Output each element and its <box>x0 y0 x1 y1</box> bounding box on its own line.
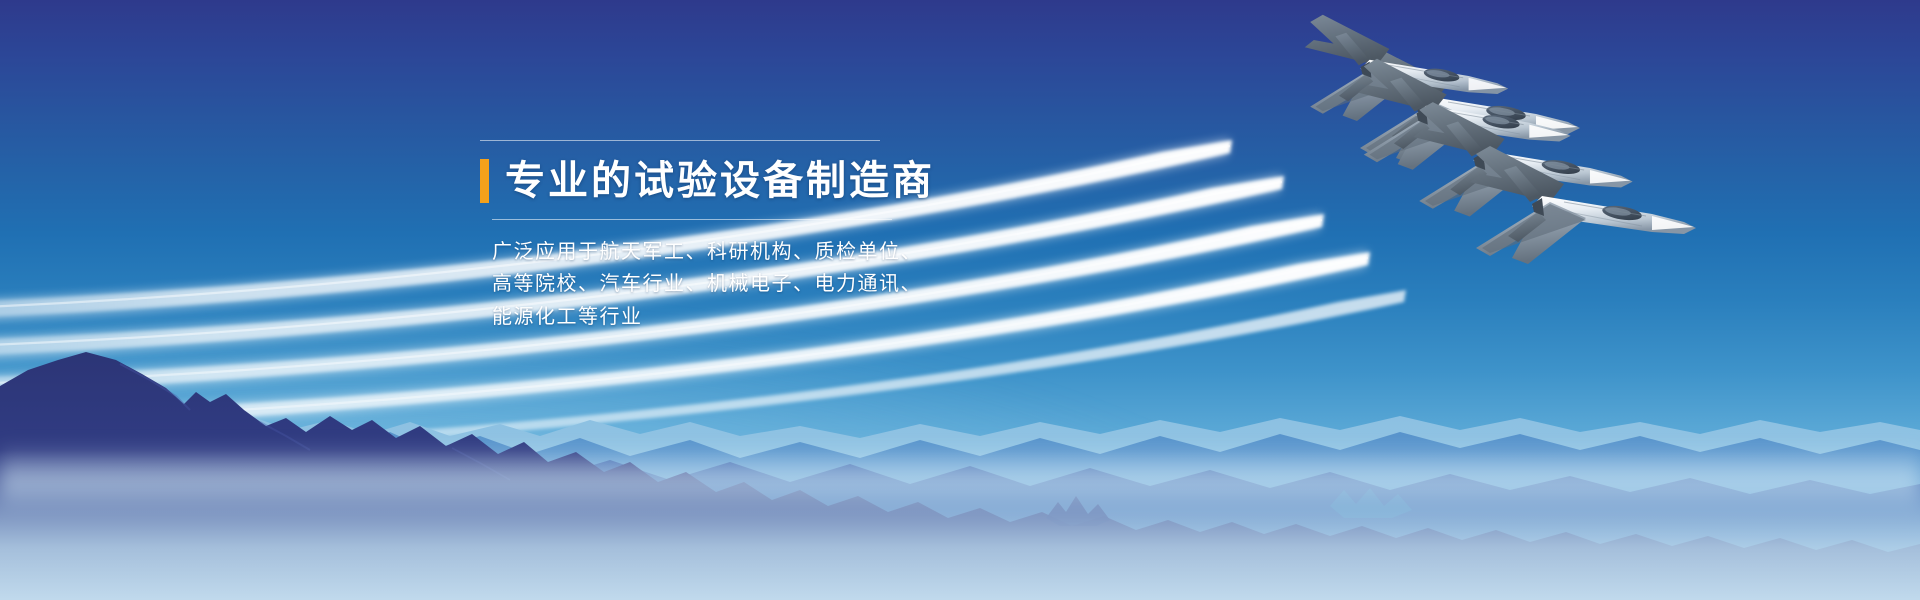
rule-top <box>480 140 880 141</box>
hero-banner: 专业的试验设备制造商 广泛应用于航天军工、科研机构、质检单位、 高等院校、汽车行… <box>0 0 1920 600</box>
subtitle-line-3: 能源化工等行业 <box>492 301 1160 333</box>
mountain-range-silhouette <box>0 330 1920 600</box>
hero-copy: 专业的试验设备制造商 广泛应用于航天军工、科研机构、质检单位、 高等院校、汽车行… <box>480 140 1160 333</box>
rule-mid <box>492 219 892 220</box>
subtitle-line-2: 高等院校、汽车行业、机械电子、电力通讯、 <box>492 268 1160 300</box>
accent-bar <box>480 159 489 203</box>
title-row: 专业的试验设备制造商 <box>480 159 1160 203</box>
subtitle-line-1: 广泛应用于航天军工、科研机构、质检单位、 <box>492 236 1160 268</box>
page-title: 专业的试验设备制造商 <box>505 161 935 201</box>
subtitle: 广泛应用于航天军工、科研机构、质检单位、 高等院校、汽车行业、机械电子、电力通讯… <box>492 236 1160 333</box>
fighter-jet-formation <box>1330 40 1850 270</box>
